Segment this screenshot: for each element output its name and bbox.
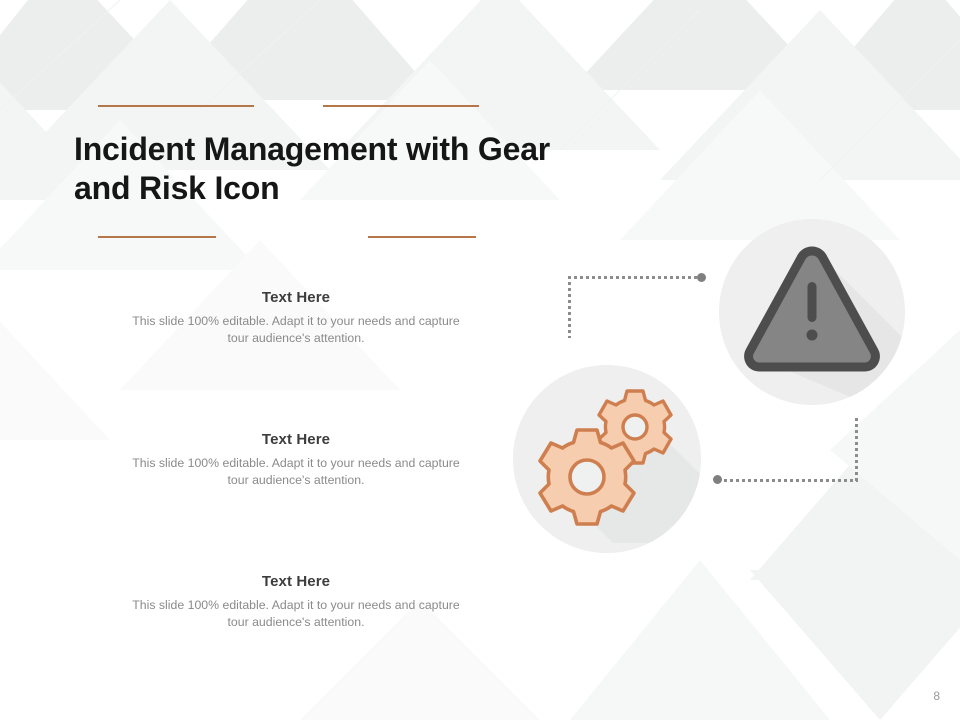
gear-icon-circle[interactable] [513, 365, 701, 553]
divider-bottom-left [98, 236, 216, 238]
page-title: Incident Management with Gear and Risk I… [74, 130, 594, 208]
connector-top-vertical [568, 276, 571, 338]
text-block-2-heading: Text Here [113, 431, 479, 448]
risk-icon-circle[interactable] [719, 219, 905, 405]
page-number: 8 [933, 689, 940, 703]
text-block-1-body: This slide 100% editable. Adapt it to yo… [113, 313, 479, 346]
slide-canvas: Incident Management with Gear and Risk I… [0, 0, 960, 720]
connector-bottom-endpoint-dot [713, 475, 722, 484]
text-block-1-heading: Text Here [113, 289, 479, 306]
text-block-3: Text Here This slide 100% editable. Adap… [113, 573, 479, 630]
connector-top-horizontal [568, 276, 703, 279]
divider-top-right [323, 105, 479, 107]
connector-top-endpoint-dot [697, 273, 706, 282]
divider-bottom-right [368, 236, 476, 238]
connector-bottom-horizontal [718, 479, 858, 482]
divider-top-left [98, 105, 254, 107]
text-block-3-heading: Text Here [113, 573, 479, 590]
text-block-3-body: This slide 100% editable. Adapt it to yo… [113, 597, 479, 630]
text-block-1: Text Here This slide 100% editable. Adap… [113, 289, 479, 346]
text-block-2-body: This slide 100% editable. Adapt it to yo… [113, 455, 479, 488]
text-block-2: Text Here This slide 100% editable. Adap… [113, 431, 479, 488]
connector-bottom-vertical [855, 418, 858, 482]
